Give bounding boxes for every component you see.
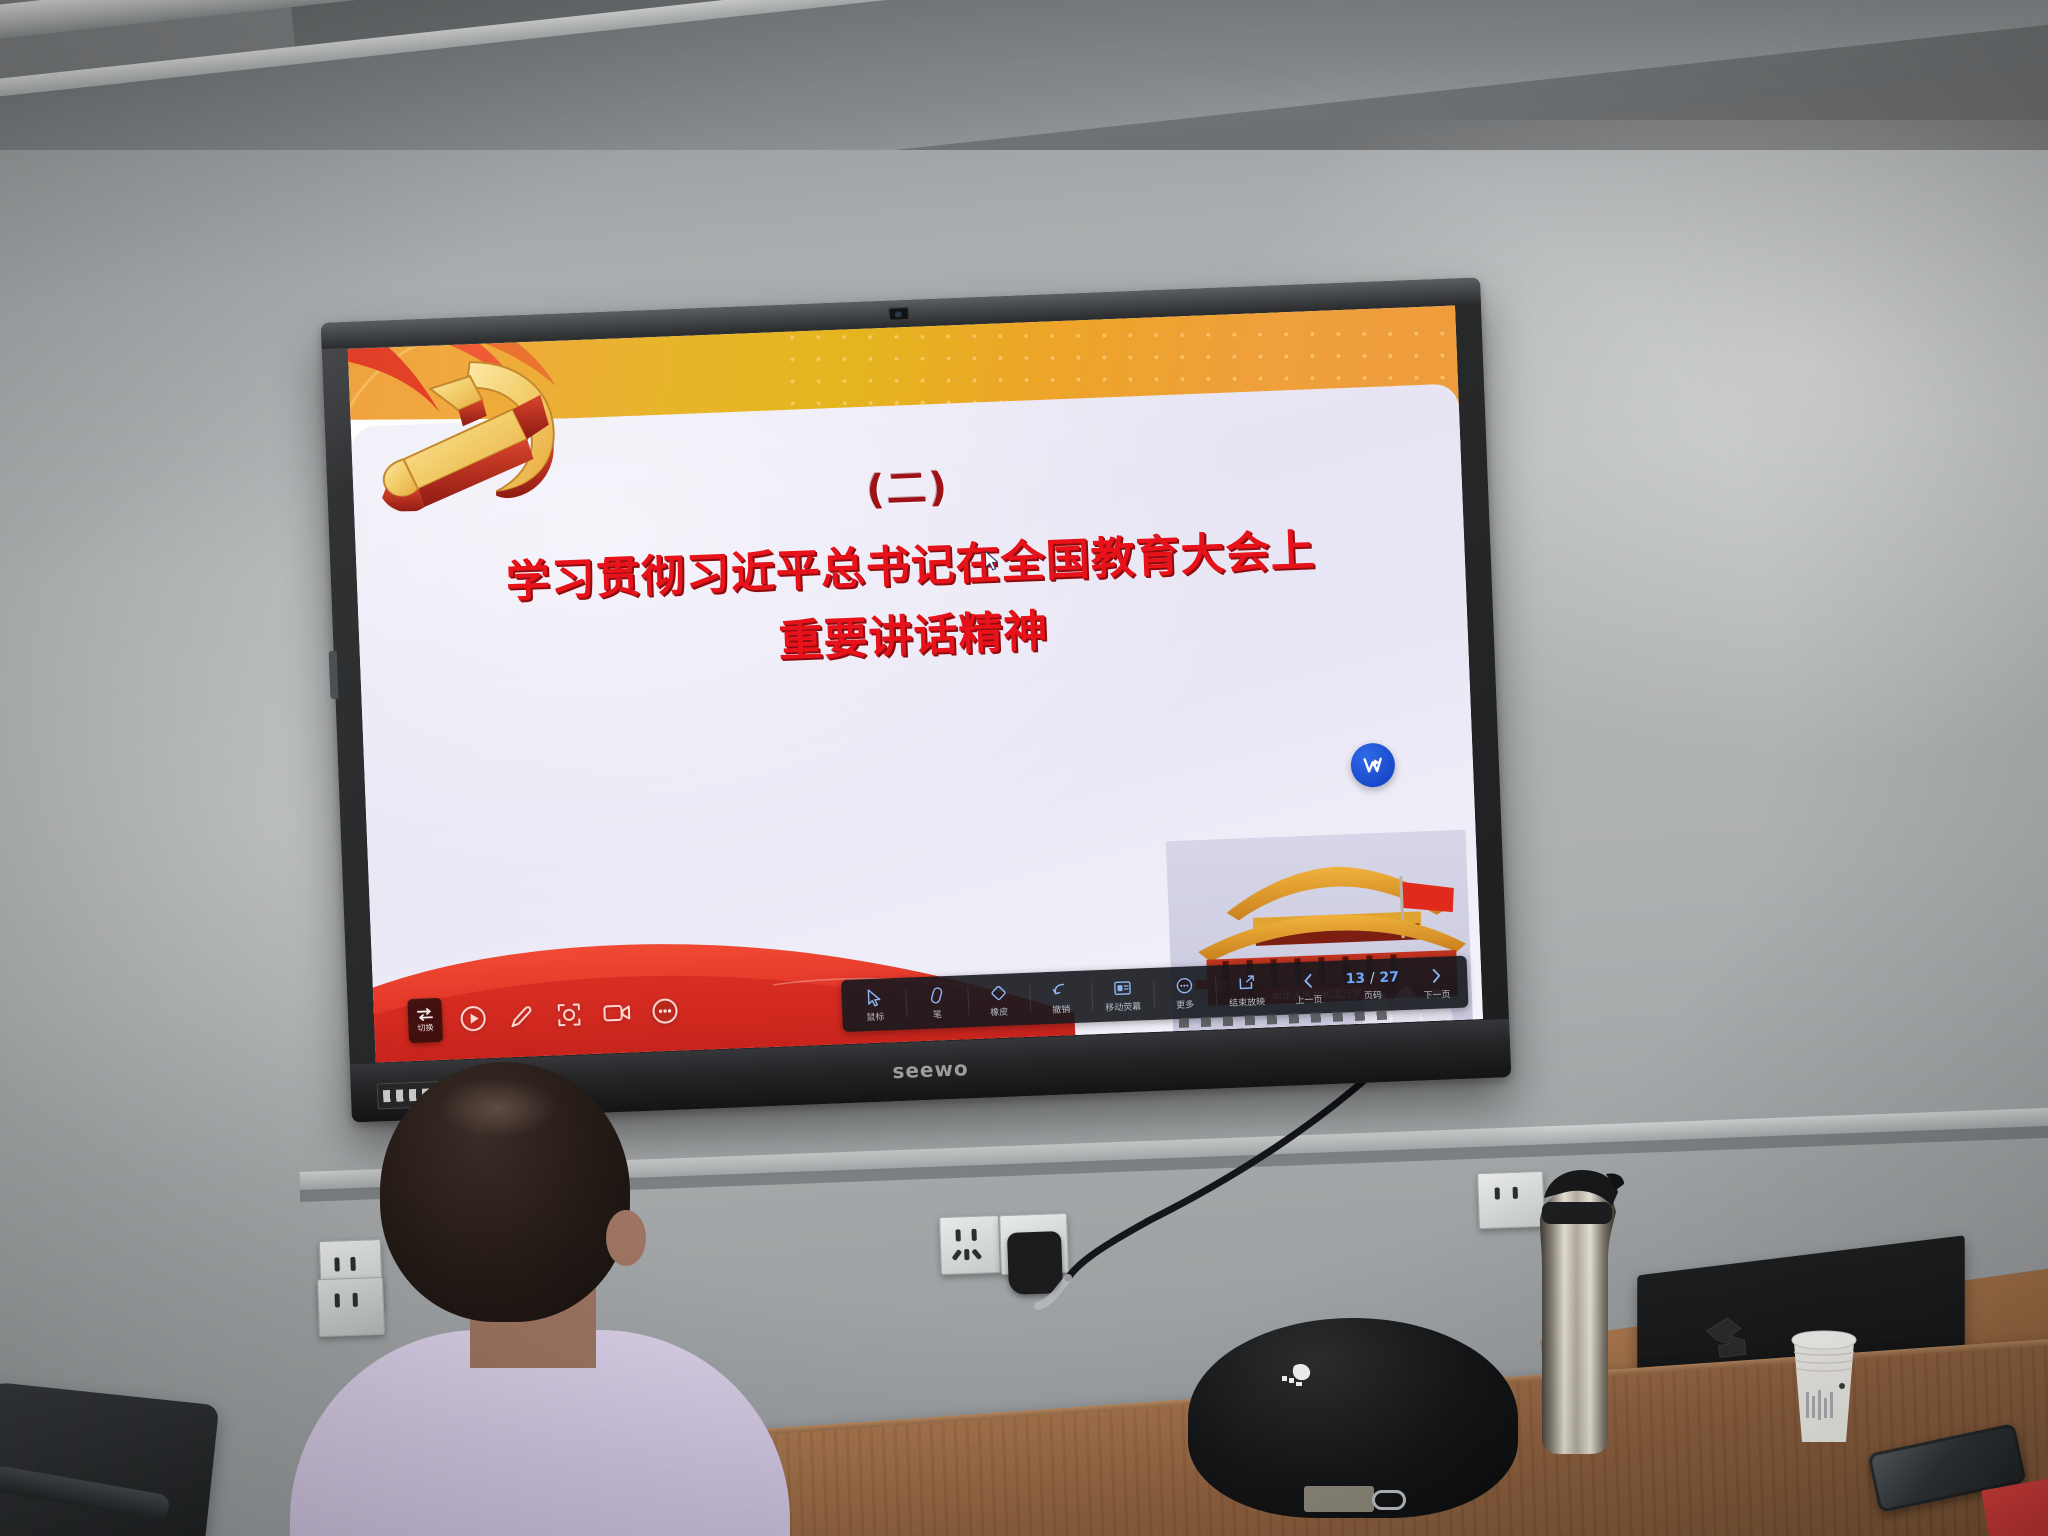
floatbar-icon-group[interactable] xyxy=(458,996,681,1035)
tool-undo-label: 撤销 xyxy=(1052,1002,1071,1016)
tool-eraser[interactable]: 橡皮 xyxy=(967,973,1031,1027)
floatbar-switch-label: 切换 xyxy=(417,1022,433,1034)
cap-buckle xyxy=(1372,1490,1406,1510)
office-chair-left xyxy=(0,1379,219,1536)
page-number-display: 13 / 27 xyxy=(1345,969,1399,987)
move-screen-icon xyxy=(1112,977,1133,998)
tool-more[interactable]: 更多 xyxy=(1153,965,1217,1019)
switch-icon xyxy=(416,1007,435,1022)
ppt-page-navigation[interactable]: 上一页 13 / 27 页码 xyxy=(1279,956,1467,1015)
thermos-flask xyxy=(1520,1158,1640,1458)
tool-end-show[interactable]: 结束放映 xyxy=(1215,963,1279,1017)
seated-person-with-cap xyxy=(1188,1318,1528,1536)
outlet-slot xyxy=(1513,1187,1518,1199)
paper-cup-stack xyxy=(1790,1330,1858,1448)
seewo-interactive-flat-panel[interactable]: (二) 学习贯彻习近平总书记在全国教育大会上 重要讲话精神 xyxy=(321,278,1512,1123)
tool-pen-label: 笔 xyxy=(933,1007,943,1020)
tool-cursor[interactable]: 鼠标 xyxy=(843,978,907,1032)
power-plug xyxy=(1007,1231,1063,1295)
chevron-right-icon xyxy=(1429,965,1444,986)
wps-icon xyxy=(1360,753,1385,778)
tool-move-screen[interactable]: 移动荧幕 xyxy=(1091,968,1155,1022)
tool-pen[interactable]: 笔 xyxy=(905,975,969,1029)
chevron-left-icon xyxy=(1301,970,1316,991)
outlet-slot xyxy=(1495,1187,1500,1199)
pen-icon[interactable] xyxy=(506,1001,537,1032)
outlet-slot xyxy=(952,1249,963,1261)
pen-icon xyxy=(928,985,945,1006)
outlet-slot xyxy=(964,1249,969,1260)
next-page-button[interactable]: 下一页 xyxy=(1407,956,1467,1010)
room-photo-scene: (二) 学习贯彻习近平总书记在全国教育大会上 重要讲话精神 xyxy=(0,0,2048,1536)
wall-outlet-center-left[interactable] xyxy=(939,1215,1001,1275)
mouse-cursor-icon xyxy=(984,550,1001,573)
page-indicator-label: 页码 xyxy=(1364,987,1383,1001)
person-ear xyxy=(606,1210,646,1266)
page-separator: / xyxy=(1370,970,1375,986)
record-icon[interactable] xyxy=(601,997,632,1028)
seated-person-front xyxy=(320,1062,740,1536)
current-page-number: 13 xyxy=(1345,970,1365,987)
tool-undo[interactable]: 撤销 xyxy=(1029,970,1093,1024)
prev-page-button[interactable]: 上一页 xyxy=(1279,961,1339,1015)
cap-logo-icon xyxy=(1280,1362,1324,1392)
tool-move-screen-label: 移动荧幕 xyxy=(1105,999,1141,1013)
tool-cursor-label: 鼠标 xyxy=(866,1009,885,1023)
panel-screen[interactable]: (二) 学习贯彻习近平总书记在全国教育大会上 重要讲话精神 xyxy=(348,306,1483,1063)
presentation-slide[interactable]: (二) 学习贯彻习近平总书记在全国教育大会上 重要讲话精神 xyxy=(348,306,1483,1063)
screenshot-icon[interactable] xyxy=(554,999,585,1030)
cursor-icon xyxy=(866,987,883,1008)
page-indicator[interactable]: 13 / 27 页码 xyxy=(1337,958,1409,1013)
floatbar-switch-button[interactable]: 切换 xyxy=(407,998,443,1043)
tool-end-show-label: 结束放映 xyxy=(1229,994,1265,1008)
seewo-brand-logo: seewo xyxy=(892,1056,969,1083)
outlet-slot xyxy=(971,1229,976,1241)
cap-strap xyxy=(1304,1486,1374,1512)
eraser-icon xyxy=(989,982,1008,1003)
end-show-icon xyxy=(1237,972,1256,993)
next-page-label: 下一页 xyxy=(1423,987,1451,1001)
outlet-slot xyxy=(971,1248,982,1260)
more-icon[interactable] xyxy=(649,996,680,1027)
undo-icon xyxy=(1051,980,1070,1001)
total-page-number: 27 xyxy=(1379,969,1399,986)
more-icon xyxy=(1175,975,1194,996)
tool-eraser-label: 橡皮 xyxy=(990,1004,1009,1018)
outlet-slot xyxy=(955,1229,960,1241)
play-icon[interactable] xyxy=(458,1003,489,1034)
prev-page-label: 上一页 xyxy=(1295,992,1323,1006)
tool-more-label: 更多 xyxy=(1176,997,1195,1011)
person-hair-highlight xyxy=(438,1078,558,1138)
panel-camera xyxy=(889,307,909,321)
